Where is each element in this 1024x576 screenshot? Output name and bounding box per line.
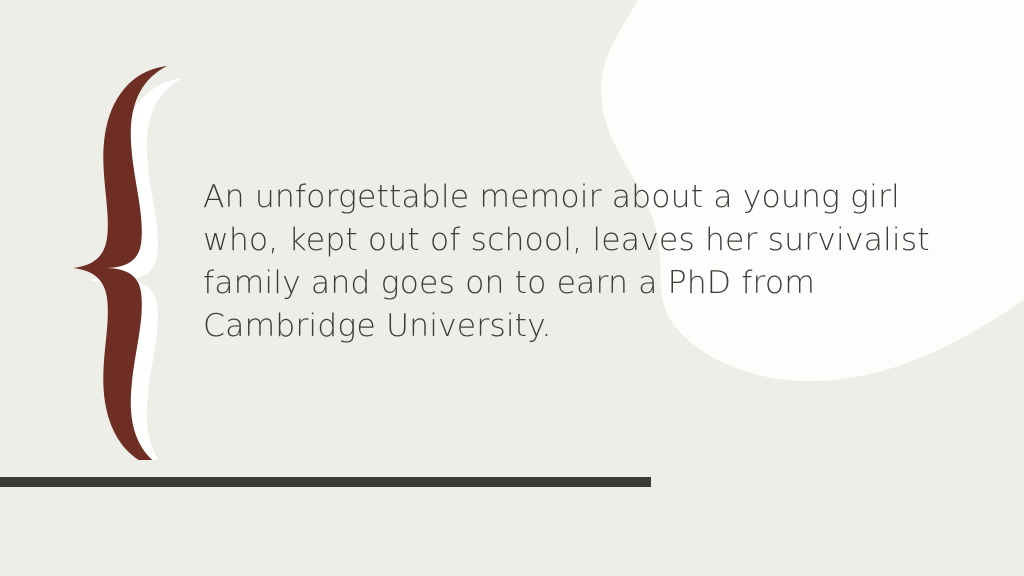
slide-canvas: An unforgettable memoir about a young gi… bbox=[0, 0, 1024, 576]
brace-fill-layer bbox=[73, 66, 167, 460]
brace-shadow-layer bbox=[89, 78, 183, 460]
brace-fill-path bbox=[73, 66, 167, 460]
bottom-rule bbox=[0, 477, 651, 487]
blurb-text: An unforgettable memoir about a young gi… bbox=[203, 176, 943, 348]
brace-shadow-path bbox=[89, 78, 183, 460]
